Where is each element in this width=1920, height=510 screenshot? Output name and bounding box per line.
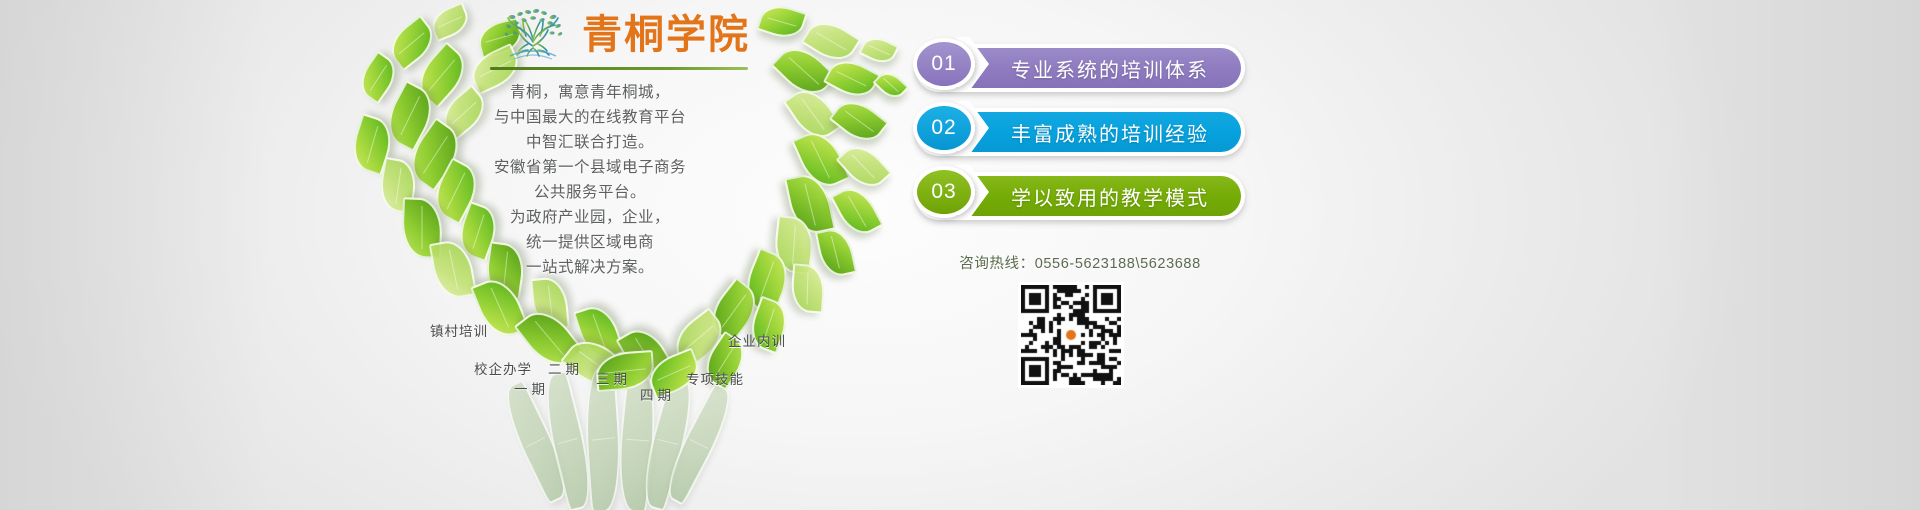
qr-code[interactable] — [1018, 282, 1124, 388]
feature-badge-number: 02 — [913, 102, 975, 154]
feature-badge-label: 丰富成熟的培训经验 — [1011, 118, 1209, 147]
feature-badge-label: 学以致用的教学模式 — [1011, 182, 1209, 211]
leaf — [836, 138, 893, 196]
term-label-1: 一期 — [514, 378, 549, 398]
description-line: 中智汇联合打造。 — [455, 130, 725, 155]
leaf — [829, 92, 889, 150]
term-label-2: 二期 — [548, 358, 583, 378]
feature-badge-03[interactable]: 学以致用的教学模式 03 — [915, 172, 1245, 220]
leaf — [790, 263, 826, 313]
feature-badge-label: 专业系统的培训体系 — [1011, 54, 1209, 83]
description-line: 安徽省第一个县域电子商务 — [455, 155, 725, 180]
category-label-school-enterprise: 校企办学 — [474, 358, 532, 378]
category-label-enterprise-internal-training: 企业内训 — [728, 330, 786, 350]
feature-badge-02[interactable]: 丰富成熟的培训经验 02 — [915, 108, 1245, 156]
banner-root: 青桐学院 青桐，寓意青年桐城， 与中国最大的在线教育平台 中智汇联合打造。 安徽… — [0, 0, 1920, 510]
feature-badge-01[interactable]: 专业系统的培训体系 01 — [915, 44, 1245, 92]
leaf — [427, 2, 473, 42]
leaf — [756, 0, 807, 43]
feature-badge-number: 01 — [913, 38, 975, 90]
description-line: 统一提供区域电商 — [455, 230, 725, 255]
hotline-text: 咨询热线：0556-5623188\5623688 — [915, 252, 1245, 273]
feature-badge-number: 03 — [913, 166, 975, 218]
category-label-special-skills: 专项技能 — [686, 368, 744, 388]
category-label-town-village-training: 镇村培训 — [430, 320, 488, 340]
brand-description: 青桐，寓意青年桐城， 与中国最大的在线教育平台 中智汇联合打造。 安徽省第一个县… — [455, 80, 725, 280]
tree-icon — [490, 6, 576, 64]
term-label-4: 四期 — [640, 384, 675, 404]
brand-divider — [490, 67, 748, 70]
leaf — [873, 67, 910, 104]
description-line: 一站式解决方案。 — [455, 255, 725, 280]
description-line: 公共服务平台。 — [455, 180, 725, 205]
description-line: 为政府产业园，企业， — [455, 205, 725, 230]
leaf — [858, 32, 899, 68]
description-line: 与中国最大的在线教育平台 — [455, 105, 725, 130]
leaf — [815, 226, 857, 280]
term-label-3: 三期 — [596, 368, 631, 388]
description-line: 青桐，寓意青年桐城， — [455, 80, 725, 105]
feature-badge-list: 专业系统的培训体系 01 丰富成熟的培训经验 02 学以致用的教学模式 03 — [915, 44, 1245, 236]
brand-logo: 青桐学院 — [490, 6, 760, 70]
brand-title: 青桐学院 — [582, 15, 750, 55]
